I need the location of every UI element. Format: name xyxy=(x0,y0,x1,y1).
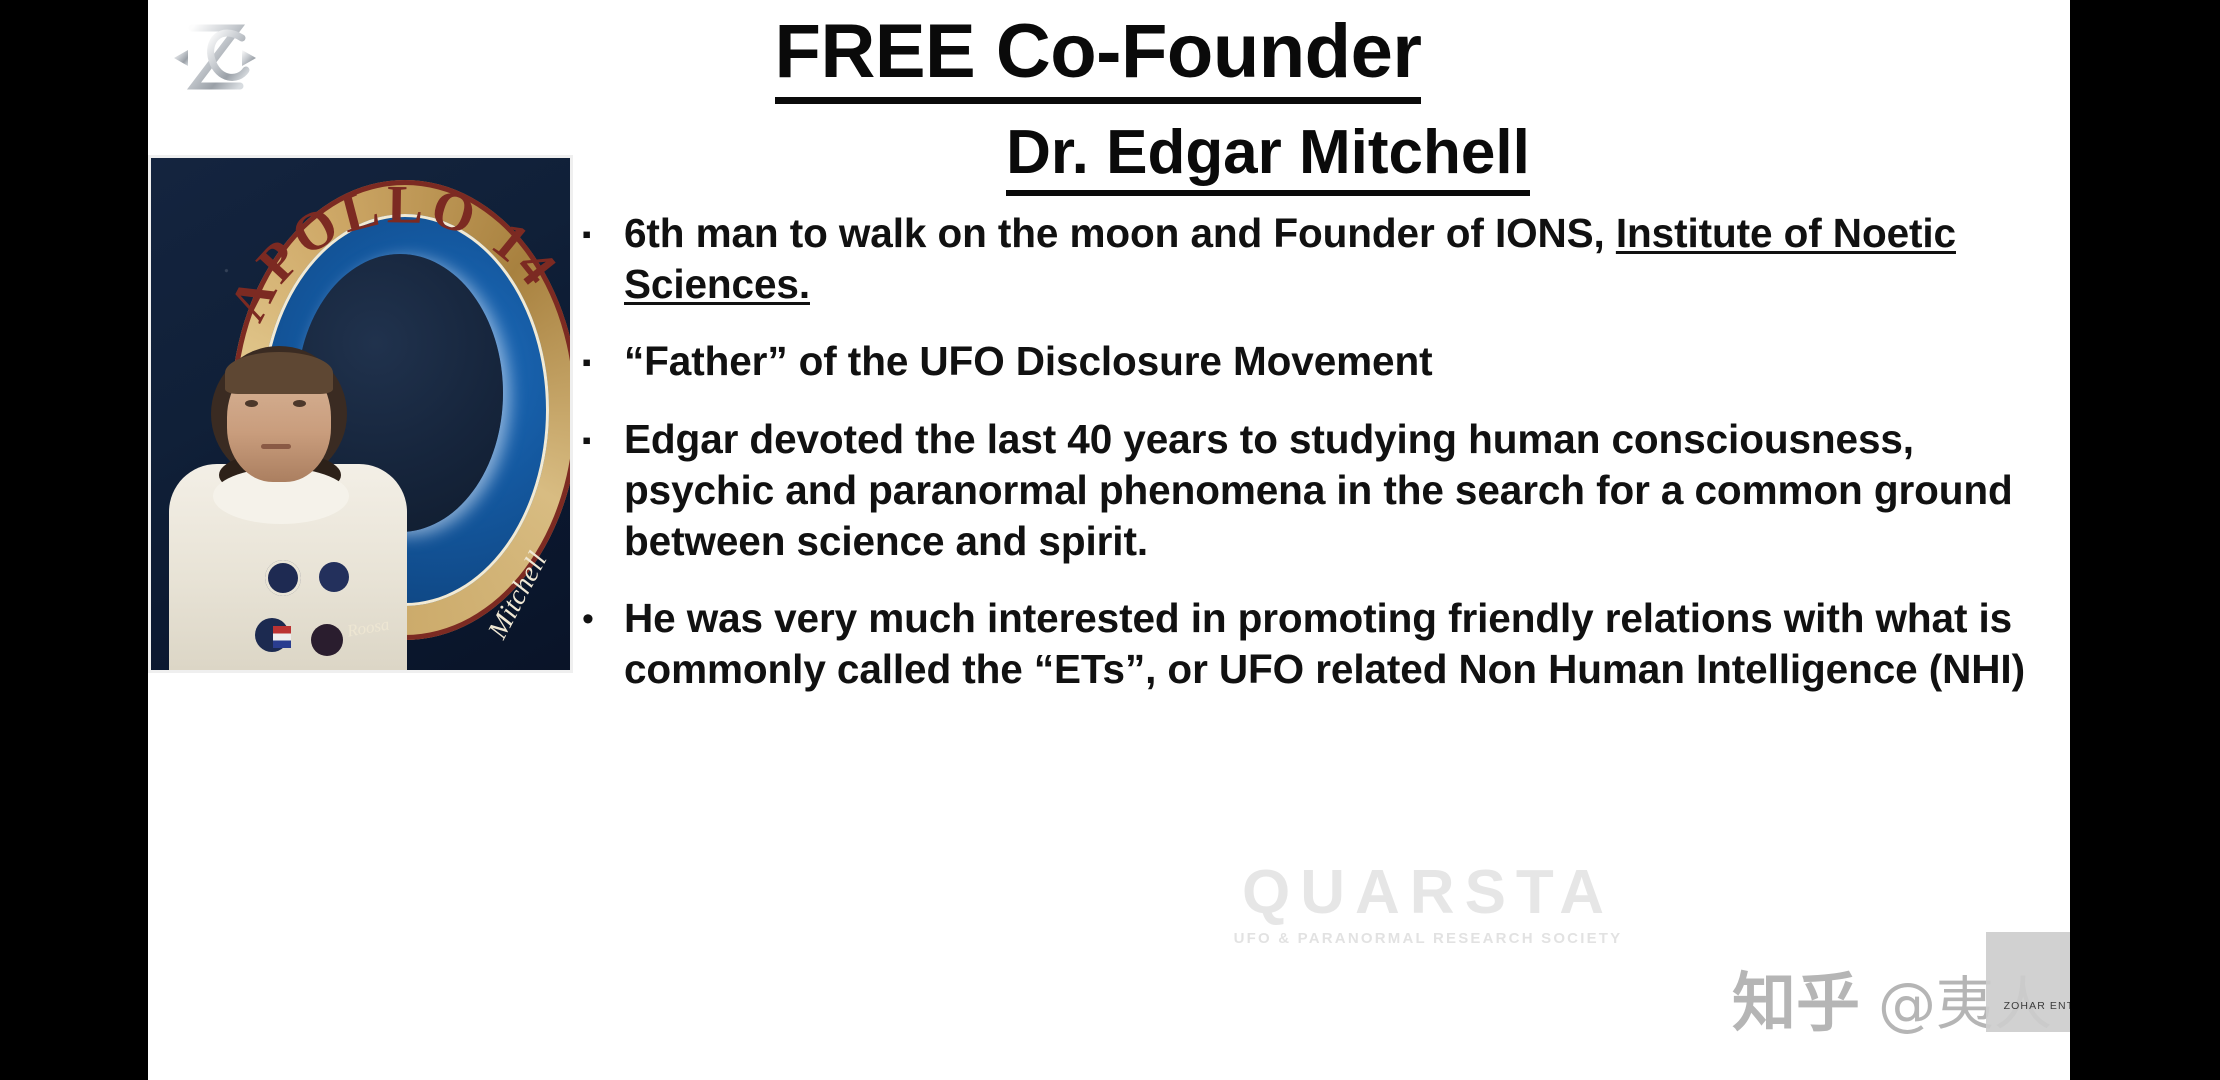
bullet-text: “Father” of the UFO Disclosure Movement xyxy=(624,336,1432,387)
bullet-list: ▪ 6th man to walk on the moon and Founde… xyxy=(578,208,2028,721)
bullet-marker-square-icon: ▪ xyxy=(578,208,624,260)
zohar-monogram-icon xyxy=(154,8,266,112)
slide-title-container: FREE Co-Founder xyxy=(508,12,1688,104)
bullet-marker-square-icon: ▪ xyxy=(578,336,624,388)
letterbox-bar-left xyxy=(0,0,148,1080)
bullet-text-lead: He was very much interested in promoting… xyxy=(624,595,2025,692)
list-item: ▪ “Father” of the UFO Disclosure Movemen… xyxy=(578,336,2028,388)
slide-subtitle-container: Dr. Edgar Mitchell xyxy=(708,120,1828,196)
zohar-badge-text: ZOHAR ENTERTAINMENT GROUP xyxy=(2004,1000,2070,1012)
slide-subtitle: Dr. Edgar Mitchell xyxy=(1006,120,1530,196)
bullet-text: 6th man to walk on the moon and Founder … xyxy=(624,208,2028,310)
bullet-text: He was very much interested in promoting… xyxy=(624,593,2028,695)
bullet-marker-dot-icon: • xyxy=(578,593,624,645)
zhihu-logo: 知乎 xyxy=(1732,972,1860,1036)
quarsta-watermark: QUARSTA UFO & PARANORMAL RESEARCH SOCIET… xyxy=(1168,862,1688,947)
bullet-text-lead: 6th man to walk on the moon and Founder … xyxy=(624,210,1605,256)
photo-starfield-background: APOLLO 14 xyxy=(151,158,570,670)
apollo-patch-wordmark: APOLLO 14 xyxy=(229,172,573,382)
zohar-footer-badge: ZOHAR ENTERTAINMENT GROUP xyxy=(1986,932,2070,1032)
bullet-text-lead: “Father” of the UFO Disclosure Movement xyxy=(624,338,1432,384)
list-item: ▪ Edgar devoted the last 40 years to stu… xyxy=(578,414,2028,567)
slide-title: FREE Co-Founder xyxy=(775,12,1422,104)
list-item: • He was very much interested in promoti… xyxy=(578,593,2028,695)
bullet-text: Edgar devoted the last 40 years to study… xyxy=(624,414,2028,567)
presentation-slide: FREE Co-Founder Dr. Edgar Mitchell APOLL… xyxy=(148,0,2070,1080)
letterbox-bar-right xyxy=(2070,0,2220,1080)
quarsta-watermark-title: QUARSTA xyxy=(1168,862,1688,924)
video-frame: FREE Co-Founder Dr. Edgar Mitchell APOLL… xyxy=(0,0,2220,1080)
quarsta-watermark-subtitle: UFO & PARANORMAL RESEARCH SOCIETY xyxy=(1168,930,1688,947)
bullet-marker-square-icon: ▪ xyxy=(578,414,624,466)
list-item: ▪ 6th man to walk on the moon and Founde… xyxy=(578,208,2028,310)
edgar-mitchell-photo: APOLLO 14 xyxy=(148,155,573,673)
svg-text:APOLLO 14: APOLLO 14 xyxy=(229,174,571,330)
bullet-text-lead: Edgar devoted the last 40 years to study… xyxy=(624,416,2013,564)
